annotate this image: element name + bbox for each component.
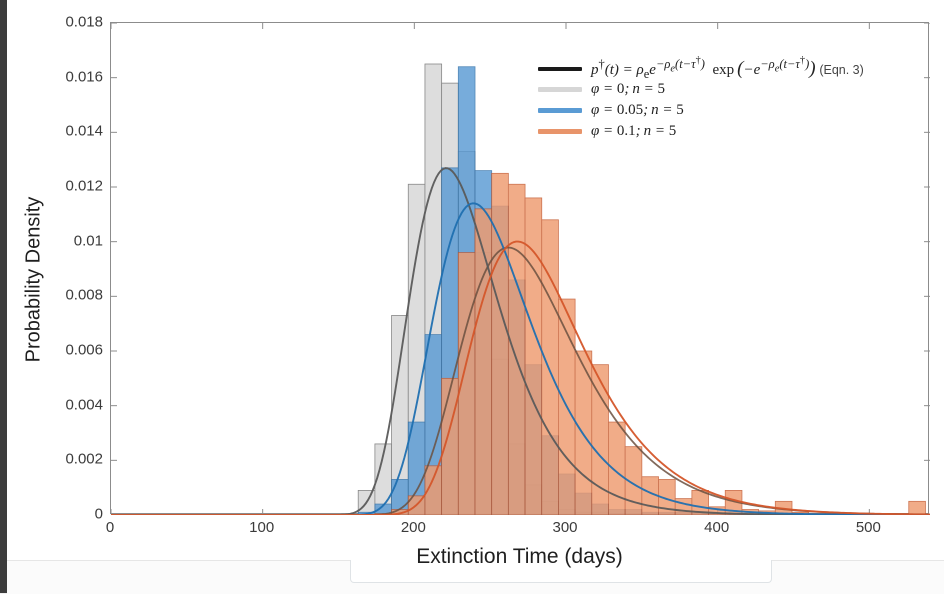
legend-label-phi-0: φ = 0; n = 5 (591, 81, 665, 98)
histogram-bar (608, 422, 625, 515)
histogram-bar (508, 184, 525, 515)
histogram-bar (909, 501, 926, 515)
histogram-bar (542, 220, 559, 515)
x-axis-label: Extinction Time (days) (110, 545, 929, 569)
x-axis-tick-labels: 0100200300400500 (110, 519, 929, 541)
histogram-bar (675, 499, 692, 515)
x-tick-label: 400 (704, 519, 729, 536)
legend-swatch-phi-0 (538, 87, 582, 92)
histogram-bar (492, 173, 509, 515)
screenshot-root: 00.0020.0040.0060.0080.010.0120.0140.016… (0, 0, 944, 593)
legend: p†(t) = ρee−ρe(t−τ†) exp (−e−ρe(t−τ†)) (… (538, 58, 930, 142)
x-tick-label: 300 (552, 519, 577, 536)
y-tick-label: 0.016 (8, 68, 103, 85)
y-tick-label: 0 (8, 506, 103, 523)
legend-label-equation: p†(t) = ρee−ρe(t−τ†) exp (−e−ρe(t−τ†)) (… (591, 55, 864, 82)
y-axis-label: Probability Density (23, 160, 46, 400)
legend-swatch-phi-005 (538, 108, 582, 113)
legend-label-phi-005: φ = 0.05; n = 5 (591, 102, 684, 119)
y-tick-label: 0.018 (8, 14, 103, 31)
legend-swatch-phi-01 (538, 129, 582, 134)
legend-item-phi-01: φ = 0.1; n = 5 (538, 121, 930, 142)
legend-item-phi-005: φ = 0.05; n = 5 (538, 100, 930, 121)
legend-item-phi-0: φ = 0; n = 5 (538, 79, 930, 100)
legend-eqn-tag: (Eqn. 3) (819, 63, 863, 77)
x-tick-label: 500 (856, 519, 881, 536)
y-tick-label: 0.014 (8, 123, 103, 140)
histogram-figure: 00.0020.0040.0060.0080.010.0120.0140.016… (0, 0, 944, 575)
x-tick-label: 100 (249, 519, 274, 536)
legend-item-equation: p†(t) = ρee−ρe(t−τ†) exp (−e−ρe(t−τ†)) (… (538, 58, 930, 79)
legend-label-phi-01: φ = 0.1; n = 5 (591, 123, 676, 140)
y-tick-label: 0.002 (8, 451, 103, 468)
x-tick-label: 0 (106, 519, 114, 536)
x-tick-label: 200 (401, 519, 426, 536)
y-axis-tick-labels: 00.0020.0040.0060.0080.010.0120.0140.016… (0, 22, 103, 514)
legend-swatch-equation (538, 67, 582, 71)
